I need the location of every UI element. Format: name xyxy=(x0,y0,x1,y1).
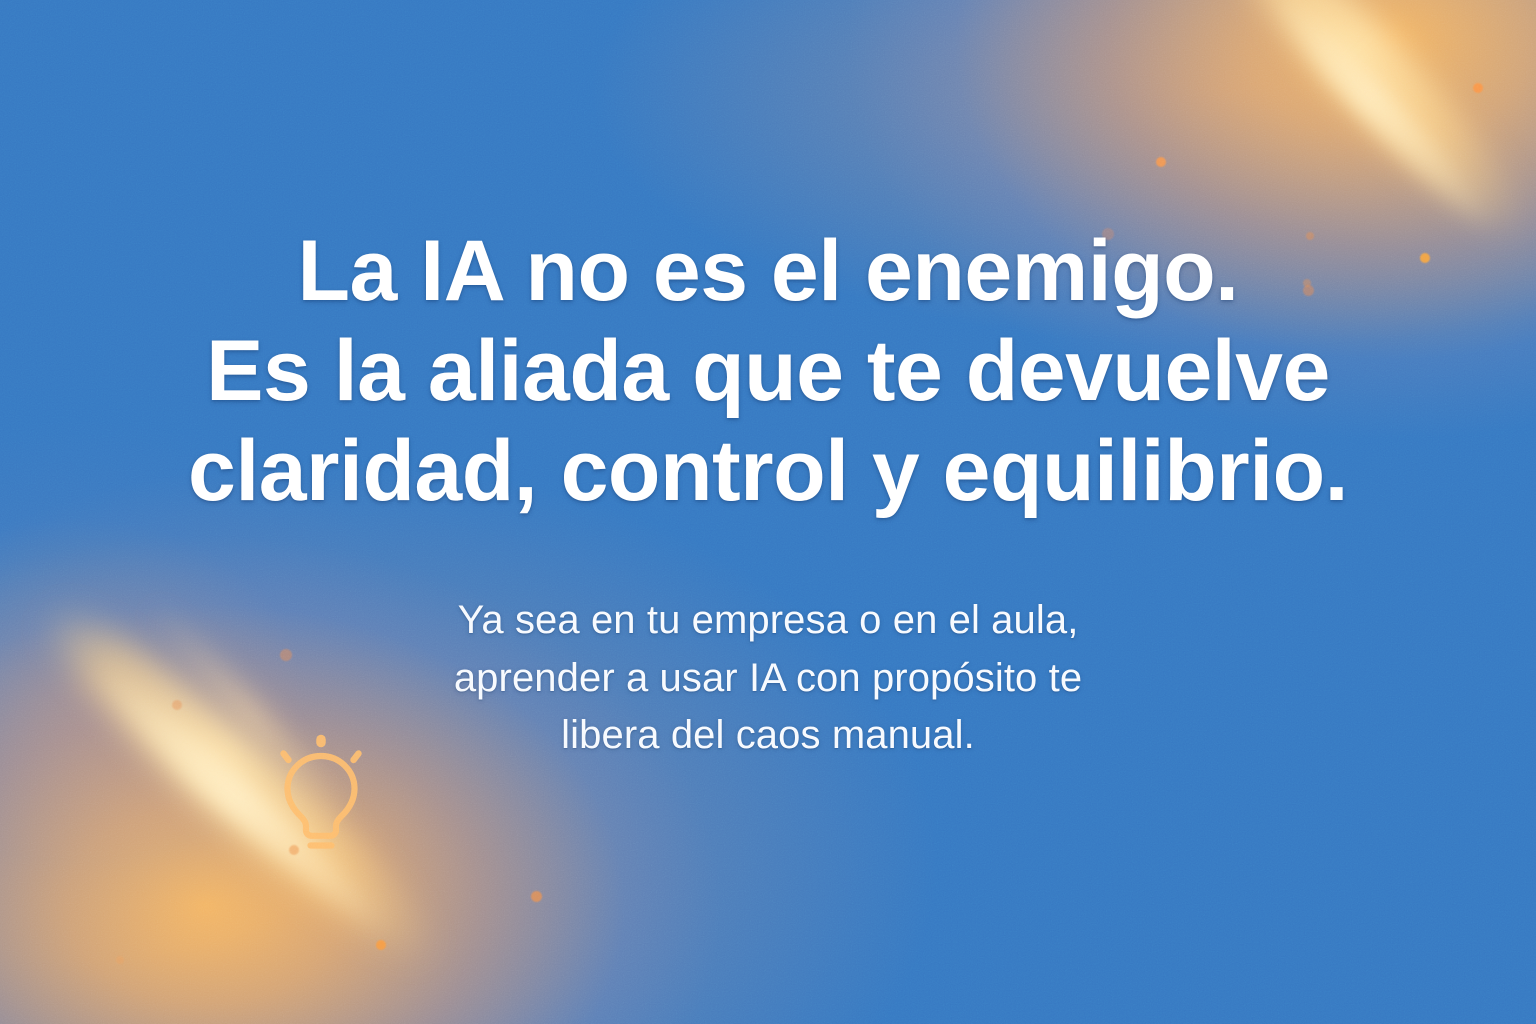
particle-dot xyxy=(280,649,292,661)
bulb-glass-path xyxy=(288,756,355,836)
bulb-ray-right xyxy=(354,754,359,761)
bulb-ray-left xyxy=(284,754,289,761)
bottom-left-secondary-ray xyxy=(138,594,362,831)
text-block: La IA no es el enemigo. Es la aliada que… xyxy=(0,0,1536,1024)
particle-dot xyxy=(1420,253,1430,263)
headline: La IA no es el enemigo. Es la aliada que… xyxy=(168,222,1368,521)
left-haze-glow xyxy=(0,0,1536,1024)
particle-dot xyxy=(1306,232,1314,240)
top-right-wide-glow xyxy=(0,0,1536,1024)
bottom-left-wide-glow xyxy=(0,0,1536,1024)
particle-dot xyxy=(1303,279,1311,287)
subhead: Ya sea en tu empresa o en el aula, apren… xyxy=(268,592,1268,765)
particle-dot xyxy=(172,700,182,710)
bottom-left-light-streak-core xyxy=(79,653,400,947)
particle-dot xyxy=(289,845,299,855)
particle-dot xyxy=(116,956,124,964)
particle-dot xyxy=(531,891,542,902)
grain-overlay xyxy=(0,0,1536,1024)
top-right-glow xyxy=(0,0,1536,1024)
particle-dot xyxy=(1473,83,1483,93)
lightbulb-icon xyxy=(262,730,380,856)
particle-dot xyxy=(1102,228,1114,240)
bottom-left-light-streak xyxy=(20,581,460,988)
top-right-light-streak xyxy=(1201,0,1536,259)
bottom-left-glow xyxy=(0,0,1536,1024)
particle-dot xyxy=(1303,285,1314,296)
slide-canvas: La IA no es el enemigo. Es la aliada que… xyxy=(0,0,1536,1024)
particle-dot xyxy=(376,940,386,950)
particle-dot xyxy=(1156,157,1166,167)
top-right-light-streak-core xyxy=(1255,0,1505,241)
